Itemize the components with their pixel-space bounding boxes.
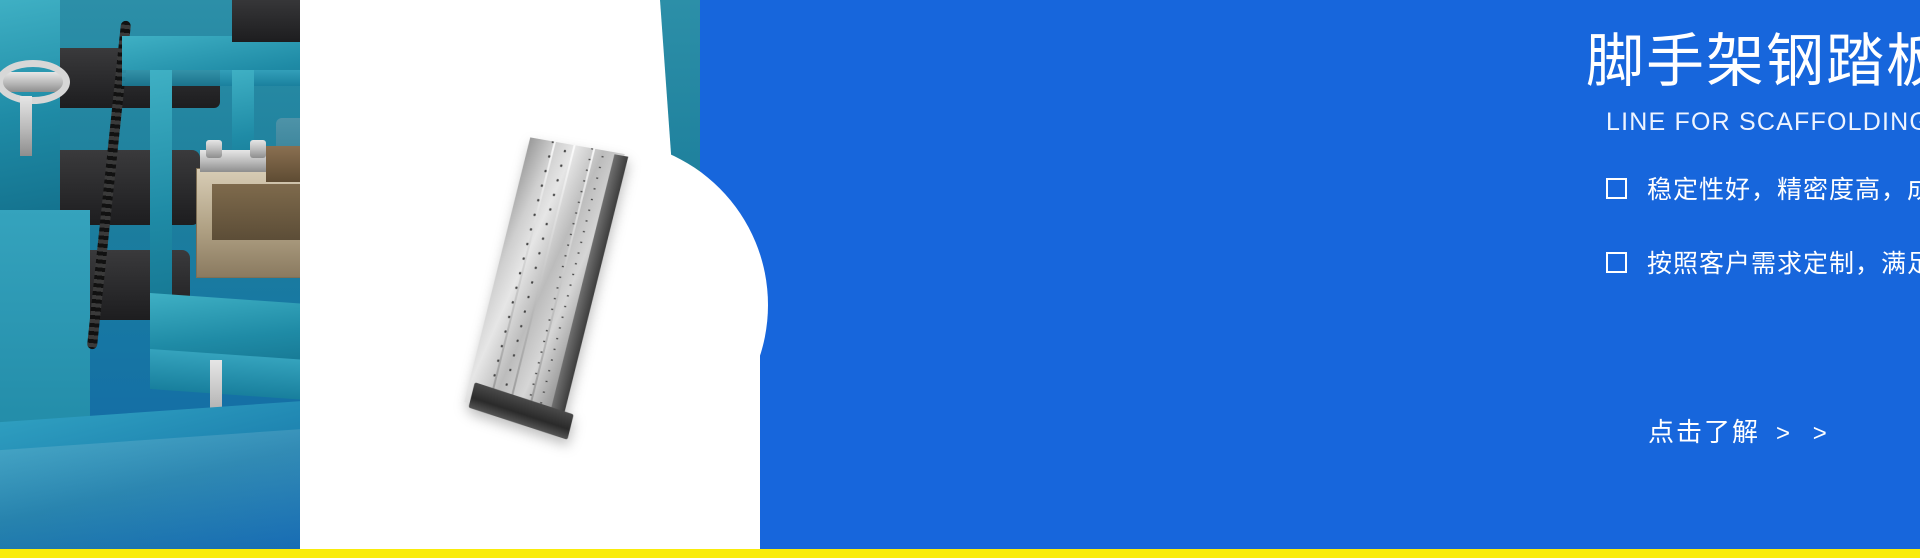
feature-list: 稳定性好，精密度高，成型速度快 按照客户需求定制，满足各种规格钢踏板的成型需求	[1606, 170, 1920, 318]
bolt-a	[206, 140, 222, 158]
cta-link[interactable]: 点击了解> >	[1648, 412, 1835, 449]
feature-item-1-label: 稳定性好，精密度高，成型速度快	[1647, 170, 1920, 206]
banner-title-cn: 脚手架钢踏板生产设备	[1586, 33, 1920, 91]
bolt-b	[250, 140, 266, 158]
feature-item-2-label: 按照客户需求定制，满足各种规格钢踏板的成型需求	[1647, 244, 1920, 280]
banner-subtitle-en: LINE FOR SCAFFOLDING WALK BOARD SHEET	[1606, 108, 1920, 137]
promo-banner: 脚手架钢踏板生产设备 LINE FOR SCAFFOLDING WALK BOA…	[0, 0, 1920, 558]
square-bullet-icon	[1606, 178, 1627, 199]
bottom-accent-bar	[0, 549, 1920, 558]
punch-head	[266, 146, 300, 182]
text-panel: 脚手架钢踏板生产设备 LINE FOR SCAFFOLDING WALK BOA…	[640, 0, 1920, 558]
column-left	[150, 70, 172, 330]
cta-label: 点击了解	[1648, 417, 1760, 447]
handwheel-shaft	[20, 96, 32, 156]
feature-item-2: 按照客户需求定制，满足各种规格钢踏板的成型需求	[1606, 244, 1920, 280]
feature-item-1: 稳定性好，精密度高，成型速度快	[1606, 170, 1920, 206]
chevron-right-icon: > >	[1776, 420, 1835, 447]
square-bullet-icon	[1606, 252, 1627, 273]
